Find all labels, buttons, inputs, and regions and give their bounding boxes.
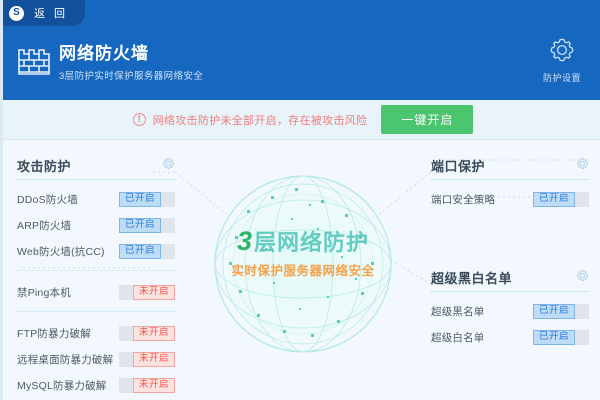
setting-row: 超级白名单已开启 [431, 326, 589, 348]
setting-label: 超级白名单 [431, 330, 485, 345]
status-badge: 已开启 [119, 244, 161, 259]
setting-row: ARP防火墙已开启 [17, 214, 175, 236]
globe-headline-number: 3 [237, 226, 253, 256]
toggle-knob [119, 352, 133, 367]
toggle-knob [119, 285, 133, 300]
section-header-attack-protection: 攻击防护 [17, 156, 175, 179]
setting-label: DDoS防火墙 [17, 192, 78, 207]
brand-logo-icon: S [9, 6, 24, 21]
page-subtitle: 3层防护实时保护服务器网络安全 [59, 68, 203, 82]
status-badge: 已开启 [533, 192, 575, 207]
status-toggle[interactable]: 已开启 [119, 244, 175, 259]
toggle-knob [161, 244, 175, 259]
section-divider [431, 179, 589, 180]
setting-row: 禁Ping本机未开启 [17, 281, 175, 303]
status-toggle[interactable]: 已开启 [533, 330, 589, 345]
status-badge: 已开启 [533, 304, 575, 319]
status-badge: 未开启 [133, 326, 175, 341]
app-title-block: 网络防火墙 3层防护实时保护服务器网络安全 [59, 44, 203, 82]
toggle-knob [575, 330, 589, 345]
app-header: S 返 回 [3, 0, 600, 100]
toggle-knob [575, 304, 589, 319]
toggle-knob [119, 378, 133, 393]
globe-subline: 实时保护服务器网络安全 [199, 260, 407, 279]
protection-settings-label: 防护设置 [543, 71, 581, 84]
section-super-blacklist-whitelist: 超级黑白名单超级黑名单已开启超级白名单已开启 [431, 268, 589, 352]
brand-mark-letter: S [13, 8, 20, 18]
setting-row: MySQL防暴力破解未开启 [17, 374, 175, 396]
section-header-port-protection: 端口保护 [431, 156, 589, 179]
setting-row: DDoS防火墙已开启 [17, 188, 175, 210]
section-title: 端口保护 [431, 156, 485, 175]
gear-icon[interactable] [576, 269, 589, 287]
status-toggle[interactable]: 已开启 [533, 192, 589, 207]
brick-wall-icon [17, 46, 51, 76]
gear-icon[interactable] [576, 157, 589, 175]
section-divider [17, 179, 175, 180]
group-divider [17, 311, 175, 312]
setting-row: 远程桌面防暴力破解未开启 [17, 348, 175, 370]
status-toggle[interactable]: 未开启 [119, 285, 175, 300]
back-button-label: 返 回 [34, 5, 68, 21]
toggle-knob [161, 192, 175, 207]
section-title: 攻击防护 [17, 156, 71, 175]
warning-banner: ! 网络攻击防护未全部开启，存在被攻击风险 一键开启 [3, 100, 600, 140]
section-title: 超级黑白名单 [431, 268, 512, 287]
setting-label: 超级黑名单 [431, 304, 485, 319]
setting-label: 禁Ping本机 [17, 285, 71, 300]
group-divider [17, 270, 175, 271]
status-badge: 已开启 [119, 218, 161, 233]
setting-row: FTP防暴力破解未开启 [17, 322, 175, 344]
status-badge: 已开启 [533, 330, 575, 345]
setting-label: MySQL防暴力破解 [17, 378, 107, 393]
status-toggle[interactable]: 已开启 [119, 192, 175, 207]
enable-all-button[interactable]: 一键开启 [381, 105, 473, 134]
status-badge: 未开启 [133, 285, 175, 300]
section-divider [431, 291, 589, 292]
network-firewall-window: S 返 回 [0, 0, 600, 400]
globe-graphic: 3层网络防护 实时保护服务器网络安全 [199, 152, 407, 387]
setting-row: Web防火墙(抗CC)已开启 [17, 240, 175, 262]
setting-label: Web防火墙(抗CC) [17, 244, 105, 259]
toggle-knob [119, 326, 133, 341]
status-toggle[interactable]: 已开启 [533, 304, 589, 319]
setting-label: FTP防暴力破解 [17, 326, 91, 341]
setting-row: 端口安全策略已开启 [431, 188, 589, 210]
exclamation-circle-icon: ! [133, 113, 146, 126]
section-header-super-blacklist-whitelist: 超级黑白名单 [431, 268, 589, 291]
globe-caption: 3层网络防护 实时保护服务器网络安全 [199, 228, 407, 279]
setting-label: ARP防火墙 [17, 218, 71, 233]
status-badge: 未开启 [133, 352, 175, 367]
status-badge: 已开启 [119, 192, 161, 207]
toggle-knob [161, 218, 175, 233]
status-toggle[interactable]: 已开启 [119, 218, 175, 233]
status-badge: 未开启 [133, 378, 175, 393]
section-port-protection: 端口保护端口安全策略已开启 [431, 156, 589, 214]
back-button[interactable]: S 返 回 [3, 0, 85, 26]
setting-row: 超级黑名单已开启 [431, 300, 589, 322]
warning-text: 网络攻击防护未全部开启，存在被攻击风险 [153, 112, 368, 128]
page-title: 网络防火墙 [59, 44, 203, 64]
setting-label: 端口安全策略 [431, 192, 495, 207]
status-toggle[interactable]: 未开启 [119, 352, 175, 367]
gear-icon[interactable] [162, 157, 175, 175]
section-attack-protection: 攻击防护DDoS防火墙已开启ARP防火墙已开启Web防火墙(抗CC)已开启禁Pi… [17, 156, 175, 400]
globe-headline-text: 层网络防护 [254, 230, 369, 255]
status-toggle[interactable]: 未开启 [119, 326, 175, 341]
setting-label: 远程桌面防暴力破解 [17, 352, 113, 367]
toggle-knob [575, 192, 589, 207]
status-toggle[interactable]: 未开启 [119, 378, 175, 393]
gear-icon [548, 36, 576, 69]
protection-settings-button[interactable]: 防护设置 [535, 36, 589, 84]
